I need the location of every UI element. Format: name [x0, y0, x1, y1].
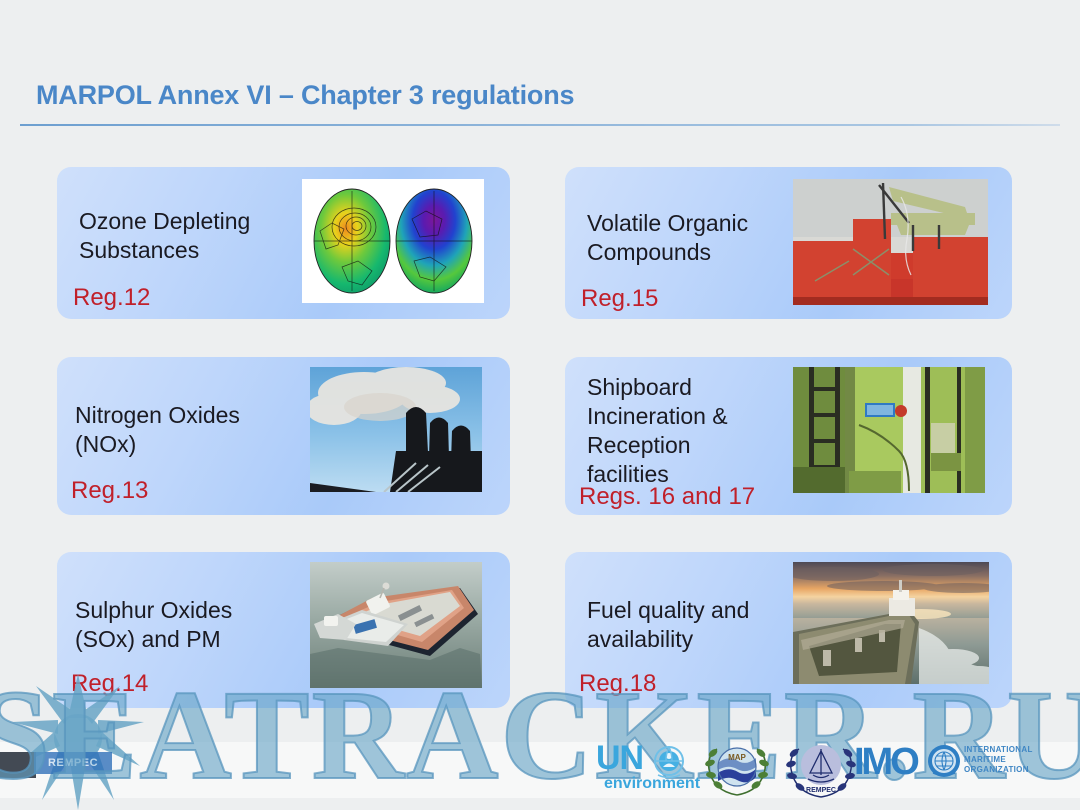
card-label: Ozone Depleting Substances — [79, 207, 250, 265]
slide-canvas: MARPOL Annex VI – Chapter 3 regulations … — [0, 0, 1080, 810]
imo-organization-label: INTERNATIONALMARITIMEORGANIZATION — [964, 745, 1033, 775]
rempec-logo-icon: REMPEC — [784, 739, 858, 801]
tanker-loading-arm-image — [793, 179, 988, 305]
card-reg-badge: Reg.12 — [73, 284, 150, 312]
imo-emblem-icon — [926, 743, 962, 779]
un-emblem-icon — [648, 741, 690, 783]
card-reg-badge: Reg.14 — [71, 670, 148, 698]
ozone-hole-map-image — [302, 179, 484, 303]
card-ozone-depleting-substances[interactable]: Ozone Depleting Substances Reg.12 — [57, 167, 510, 319]
svg-text:REMPEC: REMPEC — [806, 787, 836, 794]
card-label: Shipboard Incineration & Reception facil… — [587, 373, 728, 489]
footer-dark-block — [0, 752, 36, 778]
title-divider — [20, 124, 1060, 126]
page-title: MARPOL Annex VI – Chapter 3 regulations — [36, 80, 574, 111]
card-reg-badge: Reg.15 — [581, 285, 658, 313]
un-logo-text: UN — [596, 739, 643, 778]
engine-room-incinerator-image — [793, 367, 985, 493]
card-label: Nitrogen Oxides (NOx) — [75, 401, 240, 459]
card-nitrogen-oxides[interactable]: Nitrogen Oxides (NOx) Reg.13 — [57, 357, 510, 515]
card-label: Fuel quality and availability — [587, 596, 749, 654]
card-reg-badge: Reg.18 — [579, 670, 656, 698]
card-shipboard-incineration[interactable]: Shipboard Incineration & Reception facil… — [565, 357, 1012, 515]
card-volatile-organic-compounds[interactable]: Volatile Organic Compounds Reg.15 — [565, 167, 1012, 319]
card-label: Volatile Organic Compounds — [587, 209, 748, 267]
card-reg-badge: Reg.13 — [71, 477, 148, 505]
card-label: Sulphur Oxides (SOx) and PM — [75, 596, 232, 654]
svg-text:MAP: MAP — [728, 753, 746, 762]
card-fuel-quality-availability[interactable]: Fuel quality and availability Reg.18 — [565, 552, 1012, 708]
bunkering-tanker-aerial-image — [310, 562, 482, 688]
rempec-footer-tag: REMPEC — [34, 752, 112, 774]
footer-logo-strip: UN environment — [596, 735, 1066, 805]
bulk-carrier-sunset-image — [793, 562, 989, 684]
map-logo-icon: MAP — [704, 739, 770, 799]
imo-logo-text: IMO — [854, 741, 917, 784]
ship-funnel-smoke-image — [310, 367, 482, 492]
card-sulphur-oxides[interactable]: Sulphur Oxides (SOx) and PM Reg.14 — [57, 552, 510, 708]
card-reg-badge: Regs. 16 and 17 — [579, 483, 755, 511]
